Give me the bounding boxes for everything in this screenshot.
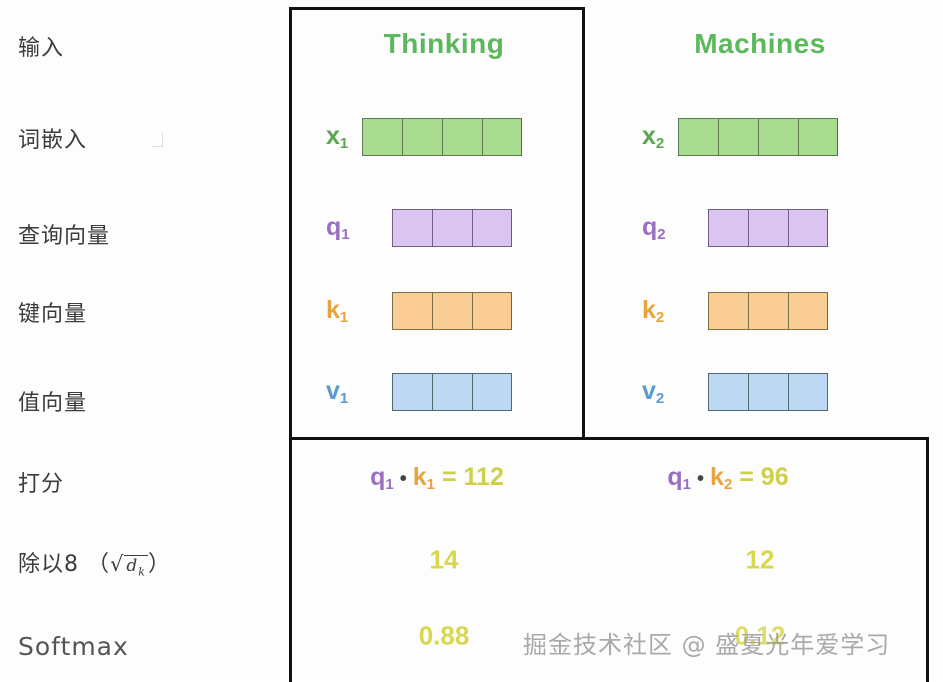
row-label-value: 值向量: [18, 385, 87, 417]
vector-letter: k: [326, 296, 340, 324]
sqrt-group: √dk: [110, 552, 148, 578]
vector-letter: v: [326, 377, 340, 405]
vector-label-v2: v2: [642, 377, 664, 407]
score-value: = 112: [442, 463, 504, 491]
row-label-key: 键向量: [18, 296, 87, 328]
vector-box-q2: [708, 209, 828, 247]
divided-value-1: 14: [430, 545, 459, 576]
divide-prefix: 除以8 （: [18, 552, 110, 577]
vector-sub: 2: [656, 390, 664, 407]
score-k: k: [413, 463, 427, 491]
vector-letter: x: [326, 122, 340, 150]
row-label-score: 打分: [18, 466, 64, 498]
radicand-sub-k: k: [138, 565, 146, 578]
vector-box-k1: [392, 292, 512, 330]
stray-mark: [152, 132, 163, 147]
dot-product-icon: •: [691, 468, 710, 490]
vector-box-x1: [362, 118, 522, 156]
vector-label-x2: x2: [642, 122, 664, 152]
sqrt-icon: √: [110, 552, 124, 576]
vector-box-k2: [708, 292, 828, 330]
vector-box-x2: [678, 118, 838, 156]
vector-letter: q: [326, 213, 341, 241]
score-expression-1: q1•k1 = 112: [370, 463, 504, 493]
vector-letter: k: [642, 296, 656, 324]
vector-label-v1: v1: [326, 377, 348, 407]
diagram-canvas: 输入 词嵌入 查询向量 键向量 值向量 打分 除以8 （√dk） Softmax…: [0, 0, 943, 679]
vector-sub: 1: [340, 390, 348, 407]
vector-box-v1: [392, 373, 512, 411]
row-label-softmax: Softmax: [18, 632, 129, 661]
radicand: dk: [124, 555, 148, 576]
vector-sub: 1: [340, 309, 348, 326]
score-k-sub: 1: [427, 476, 435, 493]
vector-box-v2: [708, 373, 828, 411]
score-q-sub: 1: [385, 476, 393, 493]
vector-sub: 1: [341, 226, 349, 243]
column-heading-thinking: Thinking: [384, 28, 505, 60]
vector-sub: 2: [657, 226, 665, 243]
score-q-sub: 1: [683, 476, 691, 493]
column-heading-machines: Machines: [694, 28, 826, 60]
score-q: q: [370, 463, 385, 491]
score-k: k: [710, 463, 724, 491]
row-label-embedding: 词嵌入: [18, 122, 87, 154]
softmax-value-1: 0.88: [419, 621, 470, 652]
dot-product-icon: •: [394, 468, 413, 490]
vector-letter: q: [642, 213, 657, 241]
watermark-text: 掘金技术社区 @ 盛夏光年爱学习: [523, 625, 890, 660]
vector-letter: x: [642, 122, 656, 150]
vector-label-k1: k1: [326, 296, 348, 326]
divided-value-2: 12: [746, 545, 775, 576]
vector-label-q1: q1: [326, 213, 350, 243]
score-value: = 96: [739, 463, 788, 491]
vector-box-q1: [392, 209, 512, 247]
score-expression-2: q1•k2 = 96: [667, 463, 788, 493]
score-q: q: [667, 463, 682, 491]
score-k-sub: 2: [724, 476, 732, 493]
vector-label-k2: k2: [642, 296, 664, 326]
row-label-query: 查询向量: [18, 218, 110, 250]
vector-sub: 2: [656, 309, 664, 326]
vector-sub: 2: [656, 135, 664, 152]
row-label-divide: 除以8 （√dk）: [18, 546, 171, 578]
vector-label-x1: x1: [326, 122, 348, 152]
vector-letter: v: [642, 377, 656, 405]
radicand-d: d: [126, 556, 138, 576]
vector-label-q2: q2: [642, 213, 666, 243]
divide-suffix: ）: [148, 552, 171, 577]
row-label-input: 输入: [18, 30, 64, 62]
vector-sub: 1: [340, 135, 348, 152]
